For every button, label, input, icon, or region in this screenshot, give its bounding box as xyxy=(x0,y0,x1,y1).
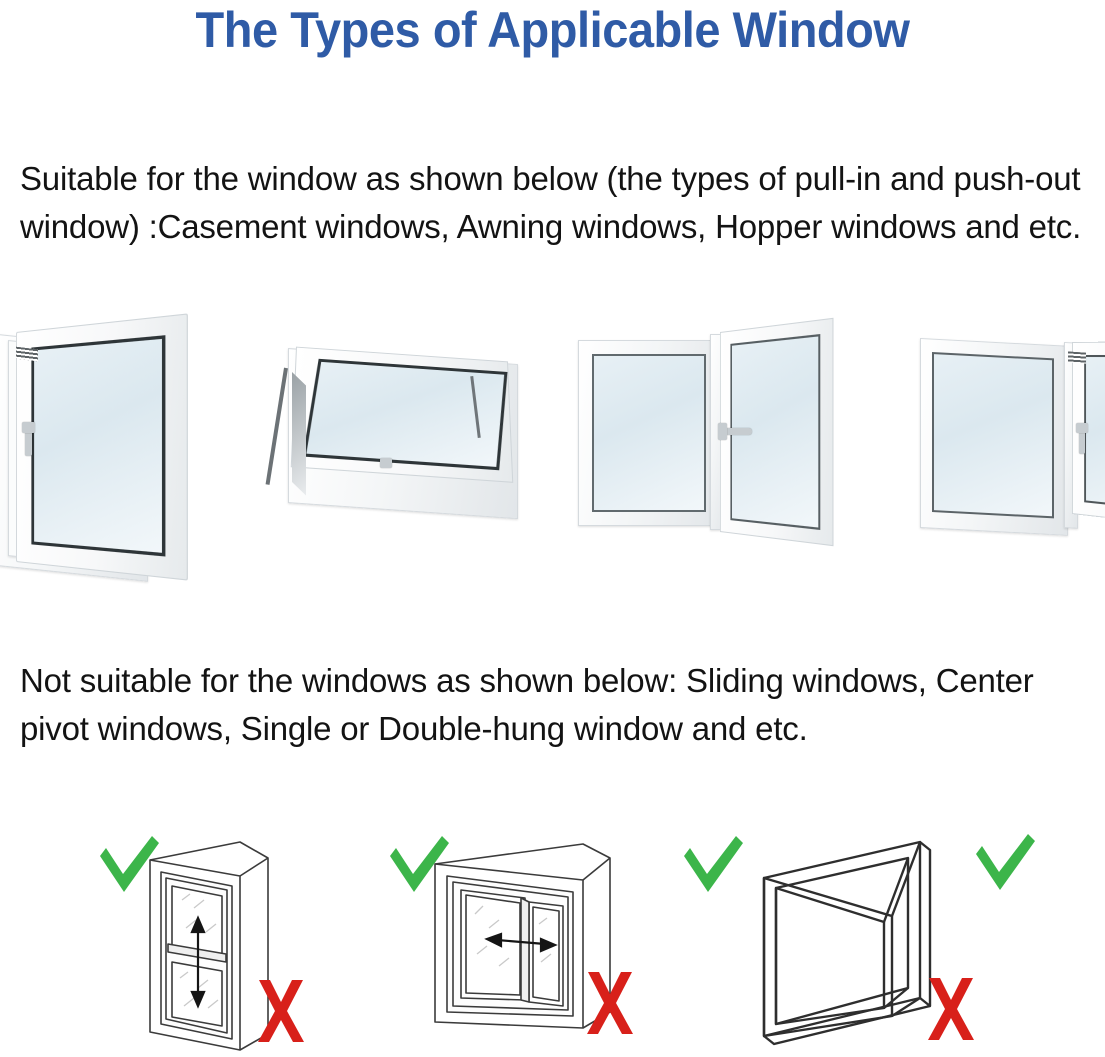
hinge-icon xyxy=(16,347,38,362)
figure-double-hung-window xyxy=(128,836,313,1057)
figure-tilt-and-turn-window xyxy=(868,326,1105,576)
not-suitable-description: Not suitable for the windows as shown be… xyxy=(20,657,1095,753)
cross-mark-icon-3 xyxy=(924,976,978,1042)
figure-sliding-window xyxy=(425,836,625,1046)
figure-awning-window-push-out xyxy=(278,326,538,576)
suitable-figures-row xyxy=(0,326,1105,576)
support-arm-shadow xyxy=(292,372,306,496)
hinge-icon xyxy=(1068,351,1086,363)
not-suitable-figures-row xyxy=(0,836,1105,1057)
page-title: The Types of Applicable Window xyxy=(33,2,1072,58)
window-handle xyxy=(1079,430,1085,454)
infographic-page: The Types of Applicable Window Suitable … xyxy=(0,0,1105,1057)
window-handle-base xyxy=(718,423,727,440)
suitable-description: Suitable for the window as shown below (… xyxy=(20,155,1095,251)
figure-center-pivot-window xyxy=(742,836,972,1051)
figure-casement-window-tilt-open xyxy=(0,326,244,576)
support-arm xyxy=(266,368,288,485)
figure-casement-window-swing-in xyxy=(570,326,840,576)
window-handle-base xyxy=(1076,423,1088,433)
cross-mark-icon-2 xyxy=(583,970,637,1036)
window-latch xyxy=(380,458,392,468)
cross-mark-icon-1 xyxy=(254,978,308,1044)
window-handle-base xyxy=(22,422,35,433)
window-handle xyxy=(25,430,32,456)
